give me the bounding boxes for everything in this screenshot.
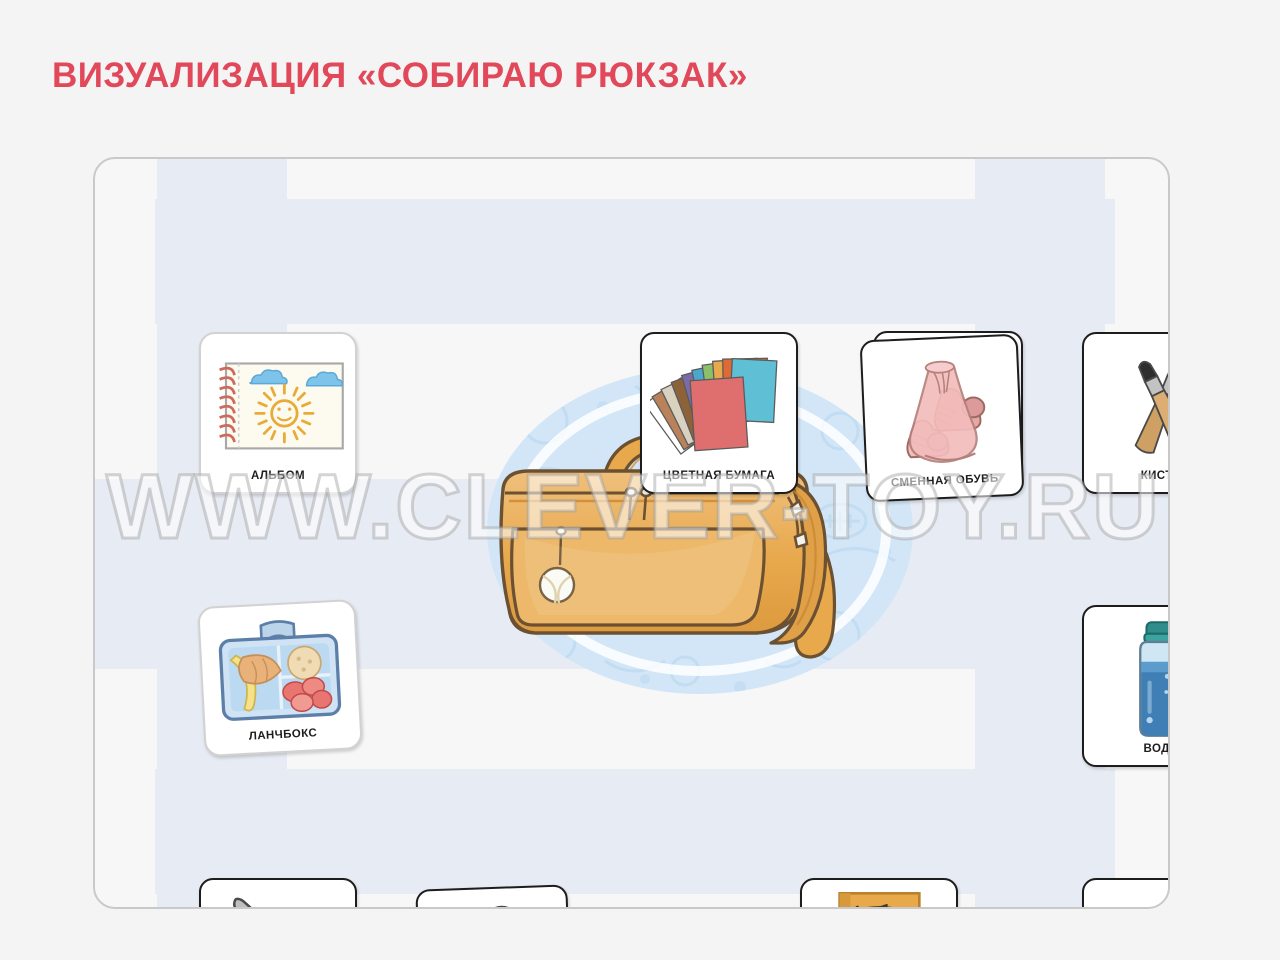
music-notebook-icon bbox=[802, 880, 956, 909]
background-band-top bbox=[155, 199, 1115, 324]
background-band-bottom bbox=[155, 769, 1115, 894]
card-label: ЦВЕТНАЯ БУМАГА bbox=[663, 470, 775, 492]
card-label: ВОДА bbox=[1144, 743, 1170, 765]
card-keys[interactable]: КЛЮЧИ bbox=[415, 884, 572, 909]
lunchbox-food-icon bbox=[199, 601, 359, 733]
keys-house-keychain-icon bbox=[417, 886, 569, 909]
card-lunchbox[interactable]: ЛАНЧБОКС bbox=[197, 599, 363, 757]
card-colored-paper[interactable]: ЦВЕТНАЯ БУМАГА bbox=[640, 332, 798, 494]
card-label: СМЕННАЯ ОБУВЬ bbox=[891, 473, 999, 500]
scissors-icon bbox=[201, 880, 355, 909]
board-panel: WWW.CLEVER-TOY.RU bbox=[93, 157, 1170, 909]
card-label: КИСТИ bbox=[1141, 470, 1170, 492]
paint-brushes-icon bbox=[1084, 334, 1170, 470]
card-music-notebook[interactable]: НОТНАЯ ТЕТРАДЬ bbox=[800, 878, 958, 909]
card-label: АЛЬБОМ bbox=[251, 470, 305, 492]
card-change-shoes[interactable]: СМЕННАЯ ОБУВЬ bbox=[860, 334, 1025, 503]
water-bottle-icon bbox=[1084, 607, 1170, 743]
sketchbook-sun-icon bbox=[201, 334, 355, 470]
card-brushes[interactable]: КИСТИ bbox=[1082, 332, 1170, 494]
shoe-bag-sneakers-icon bbox=[862, 336, 1022, 479]
card-label: ЛАНЧБОКС bbox=[249, 727, 318, 753]
card-album[interactable]: АЛЬБОМ bbox=[199, 332, 357, 494]
visualization-page: ВИЗУАЛИЗАЦИЯ «СОБИРАЮ РЮКЗАК» bbox=[0, 0, 1280, 960]
card-scissors[interactable]: НОЖНИЦЫ bbox=[199, 878, 357, 909]
card-water[interactable]: ВОДА bbox=[1082, 605, 1170, 767]
watercolor-palette-icon bbox=[1084, 880, 1170, 909]
colored-paper-stack-icon bbox=[642, 334, 796, 470]
page-title: ВИЗУАЛИЗАЦИЯ «СОБИРАЮ РЮКЗАК» bbox=[52, 56, 748, 96]
card-paints[interactable]: КРАСКИ bbox=[1082, 878, 1170, 909]
